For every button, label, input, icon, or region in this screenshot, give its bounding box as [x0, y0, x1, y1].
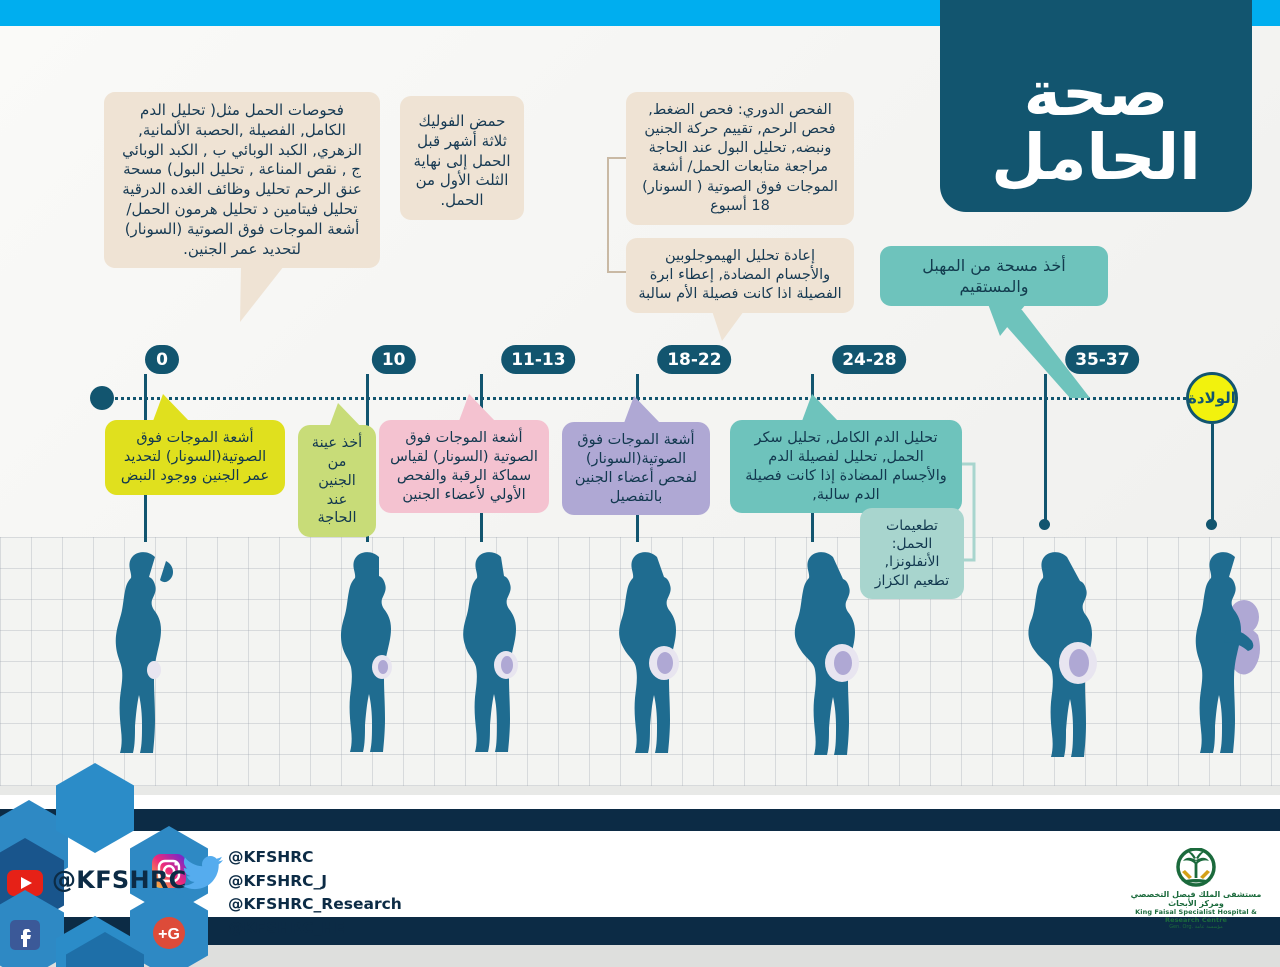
timeline-node-10[interactable]: 10	[372, 345, 416, 374]
facebook-icon	[10, 920, 40, 950]
footer-dark-top	[0, 809, 1280, 831]
silhouette-week-35-37	[1010, 545, 1110, 795]
callout-hemoglobin-retest: إعادة تحليل الهيموجلوبين والأجسام المضاد…	[626, 238, 854, 313]
stem-end-dot-birth	[1206, 519, 1217, 530]
handle-kfshrc-j[interactable]: @KFSHRC_J	[228, 870, 402, 894]
hospital-logo: مستشفى الملك فيصل التخصصي ومركز الأبحاث …	[1120, 848, 1272, 930]
palm-logo-icon	[1167, 848, 1225, 890]
callout-prenatal-tests: فحوصات الحمل مثل( تحليل الدم الكامل, الف…	[104, 92, 380, 268]
timeline-node-18-22[interactable]: 18-22	[657, 345, 731, 374]
page-title-line1: صحة	[1024, 62, 1169, 126]
callout-tail	[712, 311, 744, 341]
callout-tail	[459, 394, 495, 421]
main-handle: @KFSHRC	[52, 866, 187, 894]
stem-end-dot-35-37	[1039, 519, 1050, 530]
callout-vaginal-rectal-swab: أخذ مسحة من المهبل والمستقيم	[880, 246, 1108, 306]
timeline-start-dot	[90, 386, 114, 410]
callout-periodic-checkup: الفحص الدوري: فحص الضغط, فحص الرحم, تقيي…	[626, 92, 854, 225]
silhouette-week-18-22	[604, 545, 696, 795]
silhouette-week-0	[108, 545, 188, 795]
callout-tail	[153, 394, 189, 421]
timeline-node-11-13[interactable]: 11-13	[501, 345, 575, 374]
callout-tail	[802, 394, 838, 421]
callout-vaccinations: تطعيمات الحمل: الأنفلونزا, تطعيم الكزاز	[860, 508, 964, 599]
logo-english-name: King Faisal Specialist Hospital & Resear…	[1120, 908, 1272, 924]
infographic-page: صحة الحامل فحوصات الحمل مثل( تحليل الدم …	[0, 0, 1280, 967]
title-card: صحة الحامل	[940, 0, 1252, 212]
stem-birth	[1211, 424, 1214, 526]
handle-kfshrc[interactable]: @KFSHRC	[228, 846, 402, 870]
silhouette-with-newborn	[1188, 545, 1274, 795]
callout-tail	[988, 304, 1026, 336]
twitter-icon[interactable]	[182, 856, 224, 890]
callout-blood-glucose-tests: تحليل الدم الكامل, تحليل سكر الحمل, تحلي…	[730, 420, 962, 513]
callout-ultrasound-age-pulse: أشعة الموجات فوق الصوتية(السونار) لتحديد…	[105, 420, 285, 495]
googleplus-icon: G+	[152, 916, 186, 950]
svg-text:G+: G+	[158, 926, 180, 943]
handle-kfshrc-he[interactable]: @KFSHRC_HE	[228, 917, 402, 941]
callout-nuchal-translucency: أشعة الموجات فوق الصوتية (السونار) لقياس…	[379, 420, 549, 513]
page-title-line2: الحامل	[991, 126, 1201, 190]
silhouette-week-10	[330, 545, 414, 795]
handle-kfshrc-research[interactable]: @KFSHRC_Research	[228, 893, 402, 917]
callout-tail	[328, 403, 364, 430]
timeline-node-0[interactable]: 0	[145, 345, 179, 374]
logo-arabic-name: مستشفى الملك فيصل التخصصي ومركز الأبحاث	[1120, 890, 1272, 908]
birth-badge[interactable]: الولادة	[1186, 372, 1238, 424]
callout-fetal-sample: أخذ عينة من الجنين عند الحاجة	[298, 425, 376, 537]
callout-tail	[227, 266, 284, 322]
callout-tail	[624, 396, 660, 423]
social-handles-list: @KFSHRC @KFSHRC_J @KFSHRC_Research @KFSH…	[228, 846, 402, 940]
timeline-node-35-37[interactable]: 35-37	[1065, 345, 1139, 374]
timeline-node-24-28[interactable]: 24-28	[832, 345, 906, 374]
silhouette-week-11-13	[450, 545, 538, 795]
callout-anatomy-scan: أشعة الموجات فوق الصوتية(السونار) لفحص أ…	[562, 422, 710, 515]
callout-folic-acid: حمض الفوليك ثلاثة أشهر قبل الحمل إلى نها…	[400, 96, 524, 220]
logo-subtitle: Gen. Org. ‎مؤسسة عامة	[1120, 924, 1272, 930]
